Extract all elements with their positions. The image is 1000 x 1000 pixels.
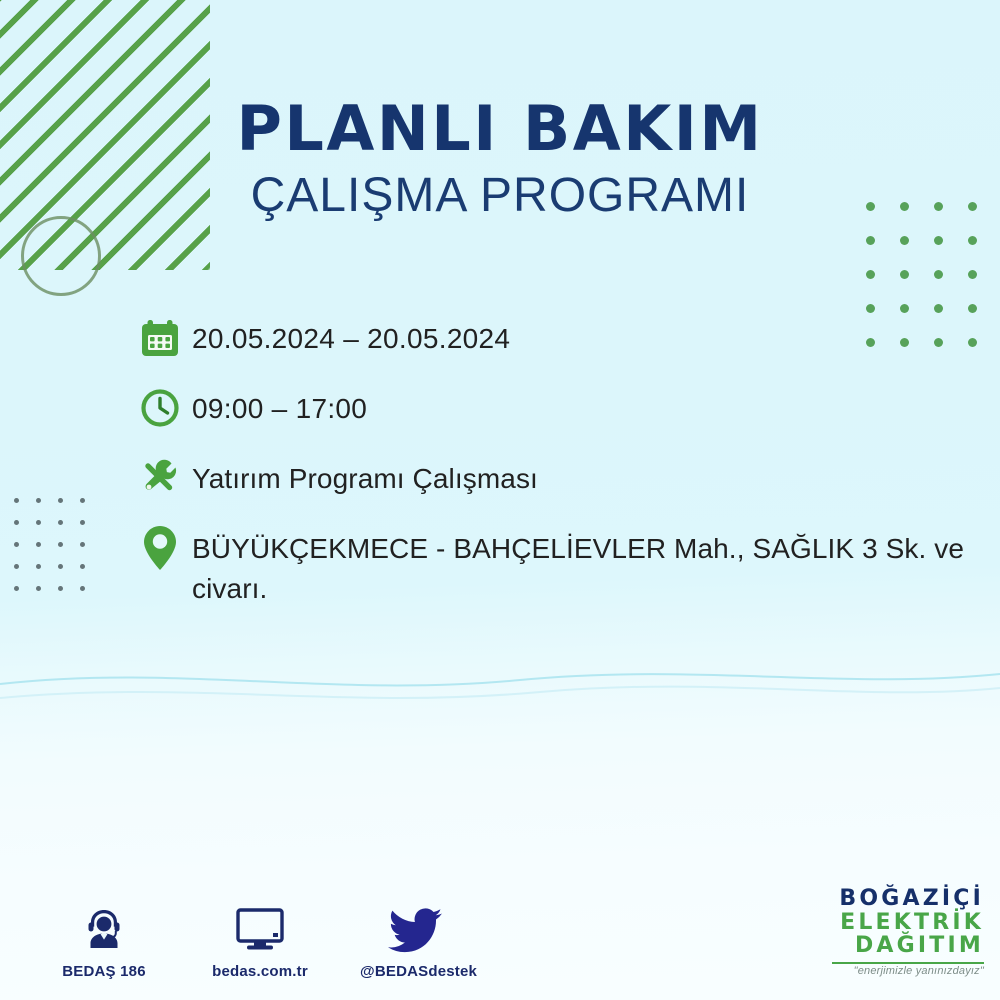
dot-grid-left-decoration bbox=[14, 498, 102, 608]
twitter-bird-icon bbox=[360, 900, 472, 954]
logo-line-dagitim: DAĞITIM bbox=[832, 934, 984, 958]
bedas-logo: BOĞAZİÇİ ELEKTRİK DAĞITIM "enerjimizle y… bbox=[832, 887, 984, 978]
date-range-text: 20.05.2024 – 20.05.2024 bbox=[192, 312, 510, 359]
work-type-text: Yatırım Programı Çalışması bbox=[192, 452, 538, 499]
contact-website-label: bedas.com.tr bbox=[204, 963, 316, 980]
planned-maintenance-poster: PLANLI BAKIM ÇALIŞMA PROGRAMI bbox=[0, 0, 1000, 1000]
detail-row-location: BÜYÜKÇEKMECE - BAHÇELİEVLER Mah., SAĞLIK… bbox=[138, 522, 978, 609]
page-title: PLANLI BAKIM bbox=[0, 96, 1000, 161]
maintenance-details: 20.05.2024 – 20.05.2024 09:00 – 17:00 bbox=[138, 312, 978, 627]
poster-header: PLANLI BAKIM ÇALIŞMA PROGRAMI bbox=[0, 96, 1000, 221]
support-agent-icon bbox=[48, 900, 160, 954]
wave-divider-decoration bbox=[0, 640, 1000, 730]
detail-row-time: 09:00 – 17:00 bbox=[138, 382, 978, 434]
contact-twitter-label: @BEDASdestek bbox=[360, 963, 472, 980]
map-pin-icon bbox=[138, 522, 192, 574]
logo-line-elektrik: ELEKTRİK bbox=[832, 911, 984, 935]
monitor-icon bbox=[204, 900, 316, 954]
logo-tagline: "enerjimizle yanınızdayız" bbox=[832, 966, 984, 978]
location-text: BÜYÜKÇEKMECE - BAHÇELİEVLER Mah., SAĞLIK… bbox=[192, 522, 978, 609]
logo-divider bbox=[832, 962, 984, 964]
contact-list: BEDAŞ 186 bedas.com.tr bbox=[48, 900, 472, 980]
tools-icon bbox=[138, 452, 192, 504]
page-subtitle: ÇALIŞMA PROGRAMI bbox=[0, 171, 1000, 221]
contact-website[interactable]: bedas.com.tr bbox=[204, 900, 316, 980]
calendar-icon bbox=[138, 312, 192, 364]
detail-row-date: 20.05.2024 – 20.05.2024 bbox=[138, 312, 978, 364]
logo-line-bogazici: BOĞAZİÇİ bbox=[832, 887, 984, 911]
circle-outline-decoration bbox=[21, 216, 101, 296]
time-range-text: 09:00 – 17:00 bbox=[192, 382, 367, 429]
contact-phone-label: BEDAŞ 186 bbox=[48, 963, 160, 980]
detail-row-work-type: Yatırım Programı Çalışması bbox=[138, 452, 978, 504]
contact-phone[interactable]: BEDAŞ 186 bbox=[48, 900, 160, 980]
clock-icon bbox=[138, 382, 192, 434]
contact-twitter[interactable]: @BEDASdestek bbox=[360, 900, 472, 980]
poster-footer: BEDAŞ 186 bedas.com.tr bbox=[0, 870, 1000, 1000]
